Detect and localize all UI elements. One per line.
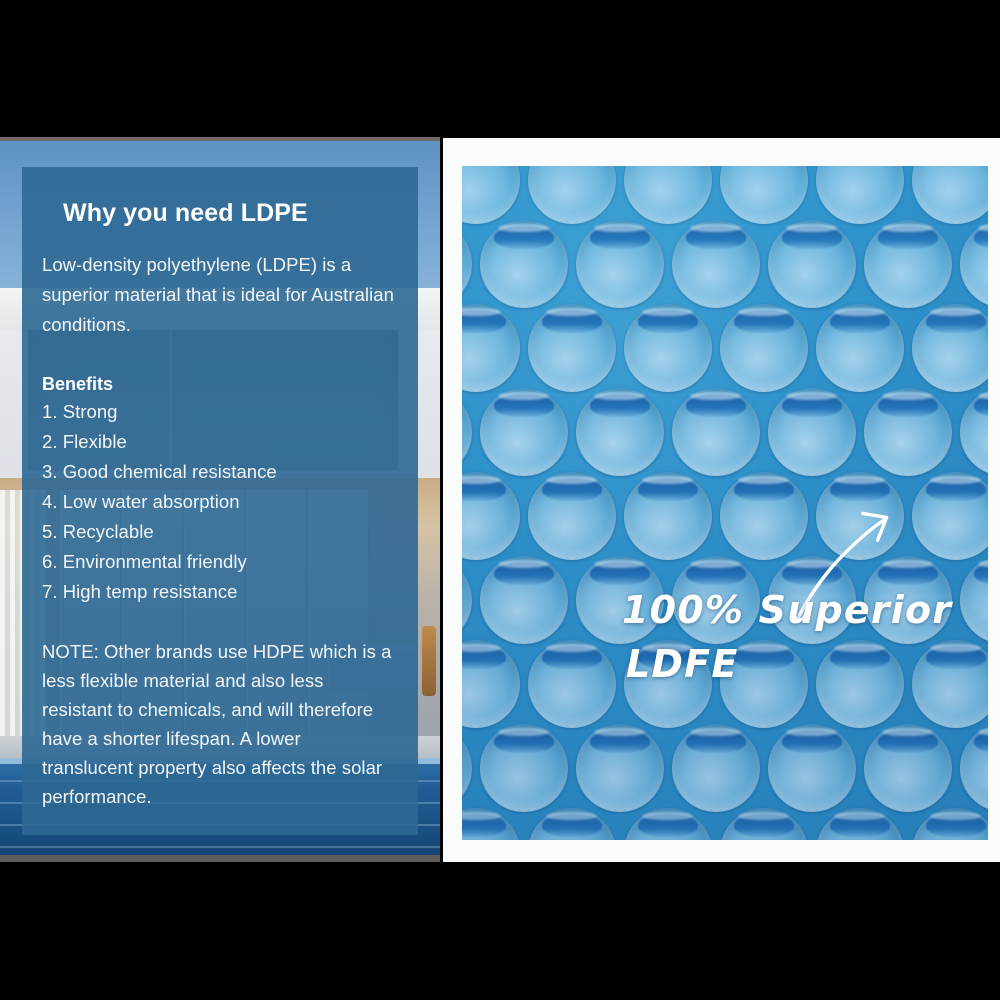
list-item: 1. Strong	[42, 397, 396, 427]
bubble	[462, 220, 472, 308]
bubble	[864, 220, 952, 308]
bubble	[720, 640, 808, 728]
panel-seam-bottom	[0, 855, 440, 862]
bubble	[480, 220, 568, 308]
list-item: 6. Environmental friendly	[42, 547, 396, 577]
bubble	[912, 472, 988, 560]
bubble	[960, 388, 988, 476]
bubble	[816, 472, 904, 560]
bubble	[462, 556, 472, 644]
bubble	[672, 388, 760, 476]
info-card: Why you need LDPE Low-density polyethyle…	[22, 167, 418, 835]
right-panel: 100% Superior LDFE	[443, 138, 1000, 862]
bubble	[462, 724, 472, 812]
bubble	[528, 472, 616, 560]
bubble	[462, 808, 520, 840]
bubble	[624, 640, 712, 728]
bubble	[768, 388, 856, 476]
bubble	[462, 166, 520, 224]
bubble	[912, 304, 988, 392]
bubble	[480, 556, 568, 644]
bubble	[462, 304, 520, 392]
bubble	[912, 166, 988, 224]
bubble	[864, 724, 952, 812]
bubble	[912, 808, 988, 840]
bubble	[462, 472, 520, 560]
bubble	[960, 556, 988, 644]
left-panel: Why you need LDPE Low-density polyethyle…	[0, 138, 440, 858]
list-item: 7. High temp resistance	[42, 577, 396, 607]
bubble	[720, 166, 808, 224]
bubble	[462, 388, 472, 476]
bubble	[624, 304, 712, 392]
bubble	[624, 166, 712, 224]
bubble	[576, 724, 664, 812]
bubble	[672, 220, 760, 308]
bubble	[864, 556, 952, 644]
bubble	[720, 472, 808, 560]
page-title: Why you need LDPE	[63, 199, 396, 228]
benefits-list: 1. Strong 2. Flexible 3. Good chemical r…	[42, 397, 396, 607]
bubble	[864, 388, 952, 476]
bubble	[672, 556, 760, 644]
intro-paragraph: Low-density polyethylene (LDPE) is a sup…	[42, 250, 396, 340]
screenshot-stage: Why you need LDPE Low-density polyethyle…	[0, 0, 1000, 1000]
list-item: 4. Low water absorption	[42, 487, 396, 517]
bubble	[816, 304, 904, 392]
bubble	[768, 724, 856, 812]
bubble	[720, 808, 808, 840]
list-item: 5. Recyclable	[42, 517, 396, 547]
list-item: 2. Flexible	[42, 427, 396, 457]
benefits-heading: Benefits	[42, 374, 396, 395]
bubble	[528, 640, 616, 728]
letterbox-bottom	[0, 862, 1000, 1000]
bubble	[624, 808, 712, 840]
bubble	[528, 808, 616, 840]
bubble	[576, 388, 664, 476]
bubble	[960, 220, 988, 308]
bubble	[720, 304, 808, 392]
bubble	[528, 166, 616, 224]
list-item: 3. Good chemical resistance	[42, 457, 396, 487]
bubble-wrap-photo: 100% Superior LDFE	[462, 166, 988, 840]
bubble	[480, 388, 568, 476]
bubble	[576, 556, 664, 644]
bubble	[816, 640, 904, 728]
bubble	[912, 640, 988, 728]
bubble	[528, 304, 616, 392]
bubble	[462, 640, 520, 728]
bubble	[768, 220, 856, 308]
photo-lamp	[422, 626, 436, 696]
bubble	[480, 724, 568, 812]
note-paragraph: NOTE: Other brands use HDPE which is a l…	[42, 637, 396, 811]
bubble	[768, 556, 856, 644]
bubble	[672, 724, 760, 812]
bubble	[624, 472, 712, 560]
letterbox-top	[0, 0, 1000, 137]
bubble	[576, 220, 664, 308]
water-ripple	[0, 846, 440, 848]
bubble	[816, 808, 904, 840]
bubble	[960, 724, 988, 812]
bubble-grid	[462, 166, 988, 840]
panel-seam-top	[0, 137, 440, 141]
bubble	[816, 166, 904, 224]
